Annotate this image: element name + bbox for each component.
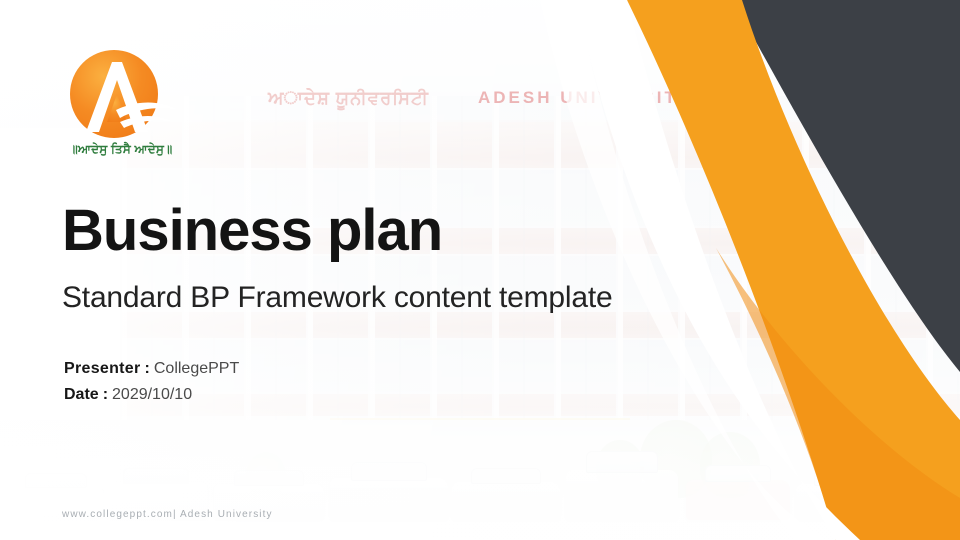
- presenter-value: CollegePPT: [154, 360, 239, 377]
- rooftop-sign-english: ADESH UNIVERSITY: [478, 88, 692, 108]
- university-logo: ॥ਆਦੇਸੁ ਤਿਸੈ ਆਦੇਸੁ॥: [60, 48, 200, 157]
- date-separator: :: [99, 386, 112, 403]
- slide-subtitle: Standard BP Framework content template: [62, 281, 612, 315]
- university-motto: ॥ਆਦੇਸੁ ਤਿਸੈ ਆਦੇਸੁ॥: [60, 142, 182, 157]
- rooftop-sign-punjabi: ਅਾਦੇਸ਼ ਯੂਨੀਵਰਸਿਟੀ: [268, 88, 429, 109]
- presenter-row: Presenter:CollegePPT: [64, 356, 239, 382]
- slide-footer: www.collegeppt.com| Adesh University: [62, 509, 273, 520]
- date-value: 2029/10/10: [112, 386, 192, 403]
- slide-title: Business plan: [62, 202, 442, 260]
- adesh-a-logo-icon: [60, 48, 182, 140]
- slide-metadata: Presenter:CollegePPT Date:2029/10/10: [64, 356, 239, 408]
- presentation-slide: ADESH HOSPITAL OPD BLOCK ਅਾਦੇਸ਼ ਯੂਨੀਵਰਸਿ…: [0, 0, 960, 540]
- presenter-label: Presenter: [64, 360, 141, 377]
- date-row: Date:2029/10/10: [64, 382, 239, 408]
- date-label: Date: [64, 386, 99, 403]
- presenter-separator: :: [141, 360, 154, 377]
